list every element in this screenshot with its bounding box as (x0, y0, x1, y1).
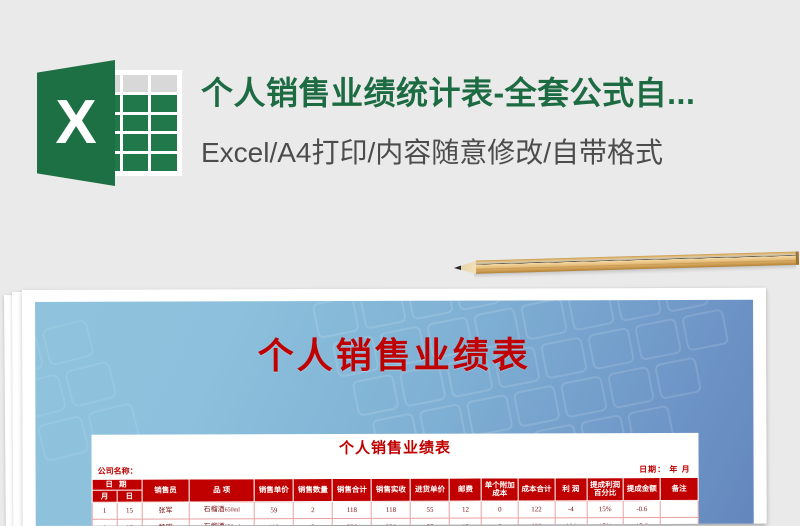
excel-grid-cell (151, 75, 177, 92)
excel-logo: X (37, 60, 182, 186)
cell-remark[interactable] (660, 517, 698, 526)
col-quantity: 销售数量 (293, 479, 332, 502)
worksheet-title: 个人销售业绩表 (91, 440, 698, 457)
cell-cost-total[interactable]: 132 (518, 518, 555, 526)
page-subtitle: Excel/A4打印/内容随意修改/自带格式 (201, 131, 800, 171)
page-title: 个人销售业绩统计表-全套公式自... (201, 68, 800, 114)
cell-profit[interactable]: 104 (555, 518, 587, 526)
date-label: 日期： 年 月 (639, 464, 690, 475)
document-preview-stack[interactable]: 个人销售业绩表 个人销售业绩表 公司名称： 日期： 年 月 (0, 289, 800, 526)
col-sales-total: 销售合计 (332, 478, 371, 501)
excel-logo-letter: X (37, 60, 115, 186)
cell-salesperson[interactable]: 魏明 (142, 519, 189, 526)
col-unit-price: 销售单价 (254, 479, 293, 502)
excel-grid-cell (123, 154, 149, 171)
excel-grid-cell (151, 134, 177, 151)
col-product: 品 项 (189, 479, 254, 502)
cell-remark[interactable] (660, 500, 698, 517)
excel-grid-cell (123, 134, 149, 151)
col-date-group: 日 期 月 日 (92, 479, 142, 502)
paper-sheet-front[interactable]: 个人销售业绩表 个人销售业绩表 公司名称： 日期： 年 月 (22, 288, 767, 526)
excel-grid-cell (151, 154, 177, 171)
slide-canvas: 个人销售业绩表 个人销售业绩表 公司名称： 日期： 年 月 (35, 300, 754, 526)
sales-table[interactable]: 日 期 月 日 销售员 品 项 销售单价 销售数量 销售合计 (92, 477, 699, 526)
cell-unit-price[interactable]: 118 (254, 519, 293, 526)
excel-grid-cell (151, 95, 177, 112)
col-date-label: 日 期 (93, 480, 142, 491)
cell-cost-total[interactable]: 122 (518, 501, 555, 518)
cell-sales-received[interactable]: 236 (371, 518, 410, 526)
cell-commission-amount[interactable]: 15.6 (624, 517, 661, 525)
cell-extra-cost[interactable]: 6 (482, 518, 519, 526)
excel-grid-cell (123, 115, 149, 132)
col-extra-cost: 单个附加成本 (481, 478, 518, 501)
table-row[interactable]: 116魏明石榴酒650ml11822362365512613210415%15.… (92, 517, 698, 526)
company-name-label: 公司名称： (98, 466, 138, 477)
cell-day[interactable]: 16 (117, 519, 142, 526)
col-salesperson: 销售员 (142, 479, 189, 502)
cell-product[interactable]: 石榴酒650ml (189, 519, 254, 526)
table-row[interactable]: 115张军石榴酒650ml59211811855120122-415%-0.6 (92, 500, 698, 519)
col-month-label: 月 (93, 491, 118, 502)
col-commission-pct: 提成利润百分比 (587, 478, 624, 501)
cell-sales-total[interactable]: 236 (332, 518, 371, 526)
cell-extra-cost[interactable]: 0 (481, 501, 518, 518)
cell-month[interactable]: 1 (92, 519, 117, 526)
slide-title: 个人销售业绩表 (35, 326, 753, 380)
cell-purchase-price[interactable]: 55 (410, 501, 449, 518)
col-profit: 利 润 (555, 478, 587, 501)
col-postage: 邮费 (449, 478, 481, 501)
col-day-label: 日 (117, 491, 141, 502)
col-commission-amount: 提成金额 (623, 477, 660, 500)
col-purchase-price: 进货单价 (410, 478, 449, 501)
cell-product-size: 650ml (225, 507, 240, 513)
col-sales-received: 销售实收 (371, 478, 410, 501)
sales-table-body[interactable]: 115张军石榴酒650ml59211811855120122-415%-0.61… (92, 500, 698, 526)
excel-grid-cell (123, 75, 149, 92)
cell-sales-total[interactable]: 118 (332, 501, 371, 518)
excel-grid-cell (123, 95, 149, 112)
cell-product[interactable]: 石榴酒650ml (189, 502, 254, 519)
cell-quantity[interactable]: 2 (293, 519, 332, 526)
cell-profit[interactable]: -4 (555, 501, 587, 518)
col-cost-total: 成本合计 (518, 478, 555, 501)
worksheet-preview[interactable]: 个人销售业绩表 公司名称： 日期： 年 月 (91, 433, 698, 526)
table-header-row: 日 期 月 日 销售员 品 项 销售单价 销售数量 销售合计 (92, 477, 698, 502)
header-banner: X 个人销售业绩统计表-全套公式自... Excel/A4打印/内容随意修改/自… (0, 0, 800, 240)
cell-sales-received[interactable]: 118 (371, 501, 410, 518)
cell-quantity[interactable]: 2 (293, 502, 332, 519)
cell-day[interactable]: 15 (117, 502, 142, 519)
cell-commission-amount[interactable]: -0.6 (623, 500, 660, 517)
cell-commission-pct[interactable]: 15% (587, 501, 624, 518)
cell-salesperson[interactable]: 张军 (142, 502, 189, 519)
col-remark: 备注 (660, 477, 698, 500)
cell-postage[interactable]: 12 (450, 501, 482, 518)
pencil-icon (452, 245, 800, 281)
cell-purchase-price[interactable]: 55 (411, 518, 450, 526)
cell-month[interactable]: 1 (92, 502, 117, 519)
cell-commission-pct[interactable]: 15% (587, 518, 624, 526)
cell-postage[interactable]: 12 (450, 518, 482, 526)
excel-grid-cell (151, 115, 177, 132)
worksheet-meta-row: 公司名称： 日期： 年 月 (96, 462, 695, 478)
cell-unit-price[interactable]: 59 (254, 502, 293, 519)
